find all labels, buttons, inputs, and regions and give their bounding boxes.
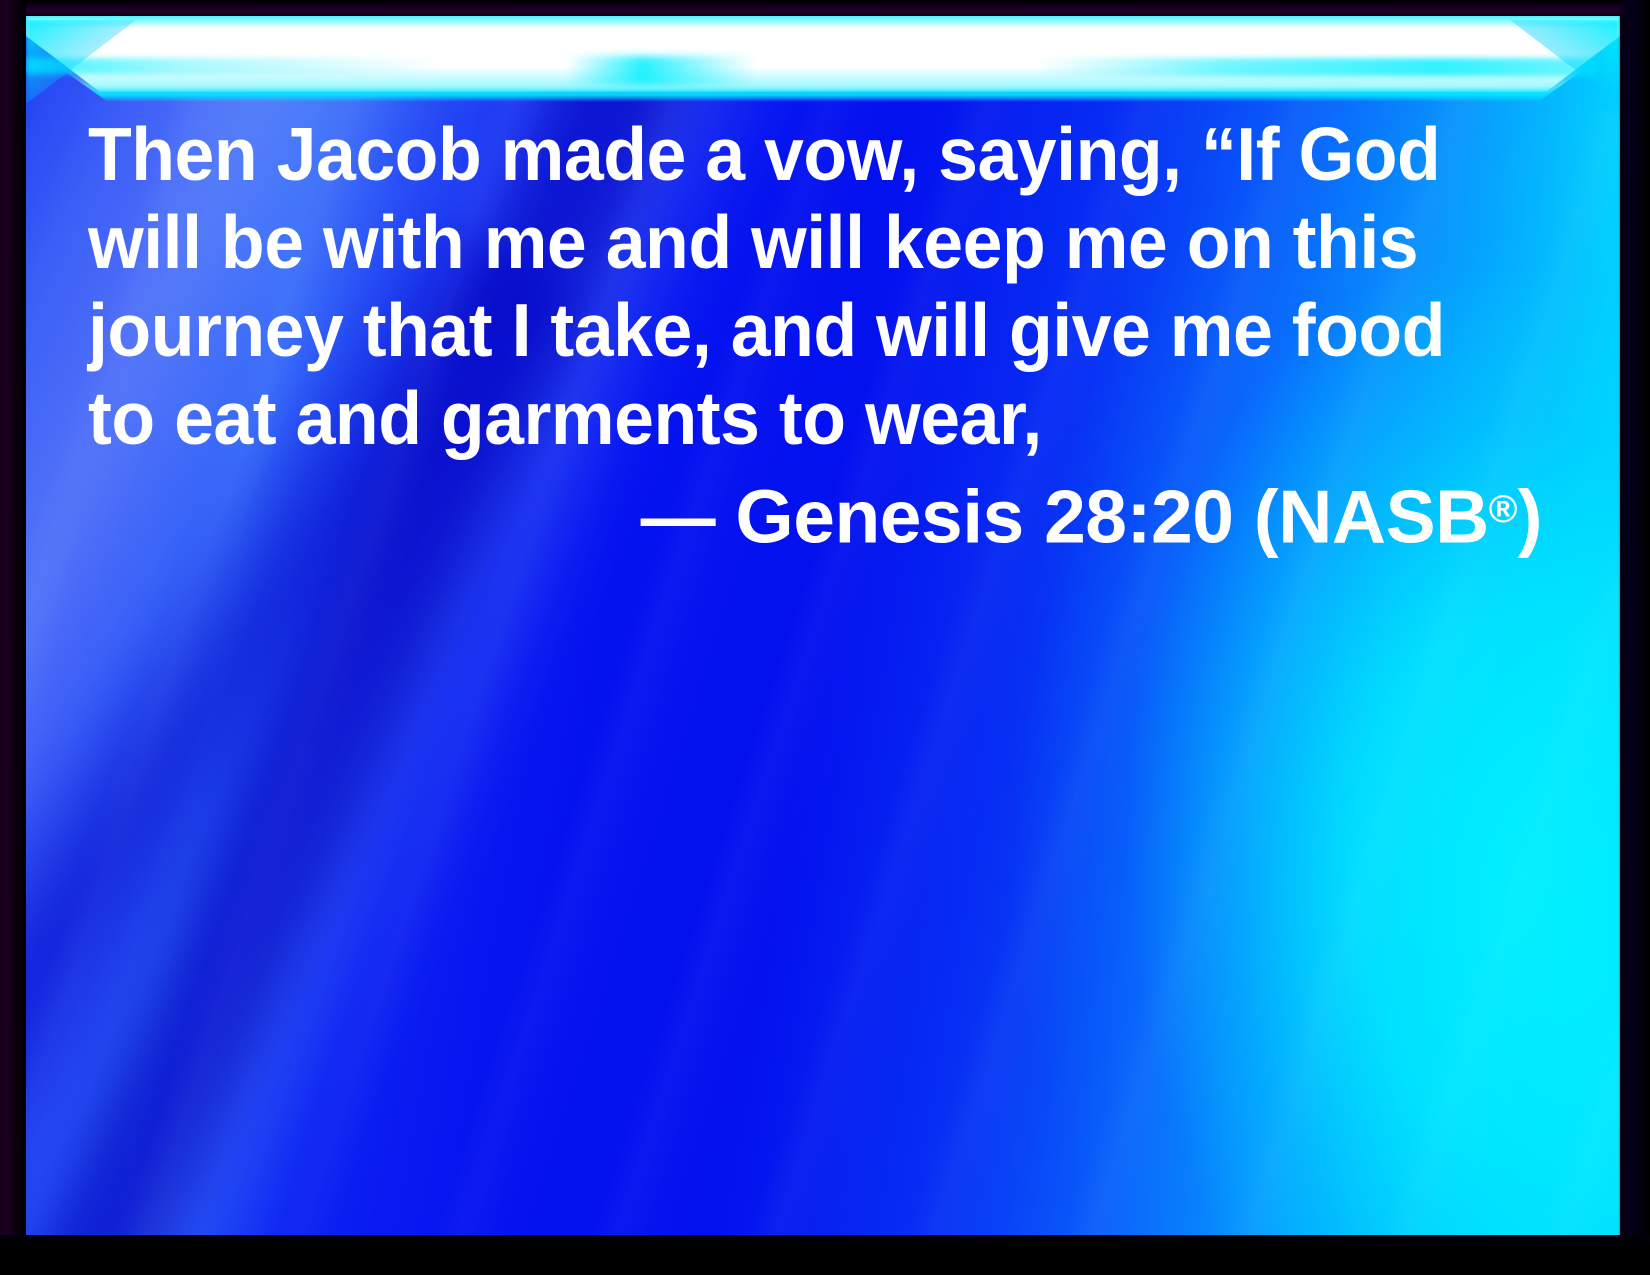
frame-edge-left [0, 0, 26, 1275]
attribution-translation-close: ) [1518, 474, 1542, 558]
attribution-dash: — [641, 474, 716, 558]
registered-trademark-icon: ® [1489, 488, 1518, 531]
frame-edge-right [1618, 0, 1650, 1275]
attribution-translation-open: (NASB [1254, 474, 1489, 558]
frame-edge-bottom [0, 1235, 1650, 1275]
verse-line-3: journey that I take, and will give me fo… [88, 286, 1501, 374]
verse-attribution: — Genesis 28:20 (NASB®) [88, 466, 1568, 560]
attribution-spacer-1 [715, 474, 735, 558]
verse-line-1: Then Jacob made a vow, saying, “If God [88, 110, 1501, 198]
verse-line-2: will be with me and will keep me on this [88, 198, 1501, 286]
attribution-spacer-2 [1233, 474, 1253, 558]
verse-line-4: to eat and garments to wear, [88, 374, 1501, 462]
scripture-slide: Then Jacob made a vow, saying, “If God w… [0, 0, 1650, 1275]
attribution-reference: Genesis 28:20 [735, 474, 1233, 558]
slide-canvas: Then Jacob made a vow, saying, “If God w… [26, 14, 1620, 1236]
verse-text-block: Then Jacob made a vow, saying, “If God w… [88, 110, 1568, 560]
